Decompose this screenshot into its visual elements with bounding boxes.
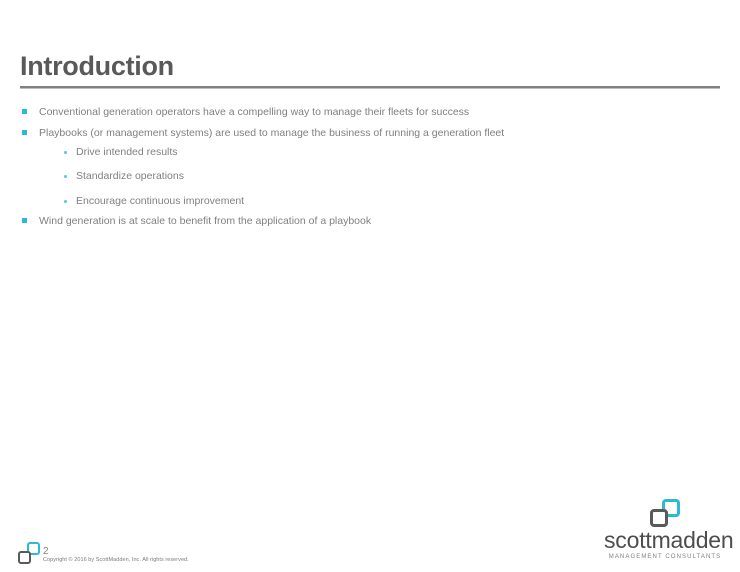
- page-number: 2: [43, 546, 189, 557]
- bullet-text: Conventional generation operators have a…: [39, 104, 720, 120]
- page-title: Introduction: [20, 52, 720, 80]
- square-bullet-icon: [22, 218, 27, 223]
- slide: Introduction Conventional generation ope…: [0, 0, 740, 572]
- brand-mark-icon: [650, 499, 680, 527]
- sub-bullet-list: Drive intended results Standardize opera…: [39, 146, 720, 209]
- sub-bullet-text: Encourage continuous improvement: [76, 195, 244, 207]
- sub-bullet-text: Drive intended results: [76, 146, 178, 158]
- title-divider: [20, 86, 720, 89]
- sub-list-item: Drive intended results: [63, 146, 720, 160]
- square-bullet-icon: [22, 109, 27, 114]
- mark-square-gray-icon: [18, 551, 31, 564]
- brand-logo: scottmadden MANAGEMENT CONSULTANTS: [604, 499, 726, 560]
- brand-wordmark: scottmadden: [604, 529, 726, 552]
- list-item: Playbooks (or management systems) are us…: [20, 125, 720, 208]
- sub-list-item: Standardize operations: [63, 170, 720, 184]
- square-bullet-icon: [22, 130, 27, 135]
- content-body: Conventional generation operators have a…: [20, 104, 720, 235]
- dot-bullet-icon: [64, 151, 67, 154]
- bullet-list: Conventional generation operators have a…: [20, 104, 720, 230]
- brand-tagline: MANAGEMENT CONSULTANTS: [604, 554, 726, 560]
- dot-bullet-icon: [64, 200, 67, 203]
- sub-bullet-text: Standardize operations: [76, 170, 184, 182]
- copyright-notice: Copyright © 2016 by ScottMadden, Inc. Al…: [43, 557, 189, 563]
- bullet-text: Playbooks (or management systems) are us…: [39, 125, 720, 141]
- scottmadden-mark-icon: [18, 542, 40, 564]
- list-item: Conventional generation operators have a…: [20, 104, 720, 120]
- brand-square-gray-icon: [650, 509, 668, 527]
- list-item: Wind generation is at scale to benefit f…: [20, 213, 720, 229]
- sub-list-item: Encourage continuous improvement: [63, 195, 720, 209]
- dot-bullet-icon: [64, 175, 67, 178]
- title-block: Introduction: [20, 52, 720, 80]
- footer-left: 2 Copyright © 2016 by ScottMadden, Inc. …: [18, 542, 189, 564]
- footer-text-group: 2 Copyright © 2016 by ScottMadden, Inc. …: [43, 546, 189, 564]
- bullet-text: Wind generation is at scale to benefit f…: [39, 213, 720, 229]
